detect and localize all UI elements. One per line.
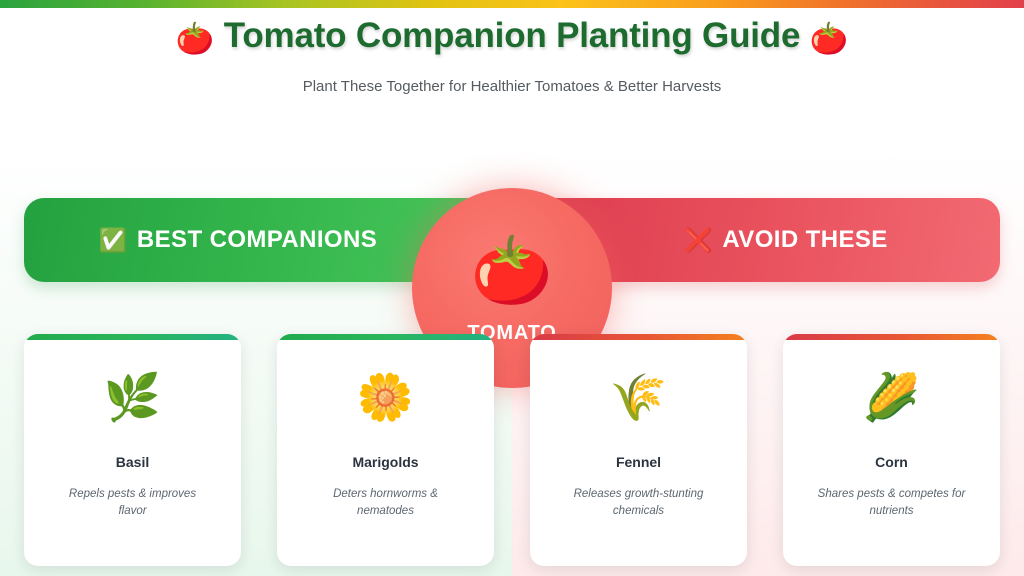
page-title-text: Tomato Companion Planting Guide xyxy=(224,16,800,55)
plant-name: Corn xyxy=(875,454,908,470)
herb-icon: 🌿 xyxy=(104,366,161,428)
plant-card-marigolds[interactable]: 🌼 Marigolds Deters hornworms & nematodes xyxy=(277,334,494,566)
tomato-icon-center: 🍅 xyxy=(471,237,553,303)
card-accent-bar xyxy=(530,334,747,340)
cross-mark-icon: ❌ xyxy=(684,229,713,252)
plant-description: Deters hornworms & nematodes xyxy=(311,486,461,519)
plant-card-list: 🌿 Basil Repels pests & improves flavor 🌼… xyxy=(24,334,1000,566)
plant-description: Shares pests & competes for nutrients xyxy=(817,486,967,519)
blossom-icon: 🌼 xyxy=(357,366,414,428)
page-title: 🍅 Tomato Companion Planting Guide 🍅 xyxy=(0,14,1024,59)
check-mark-icon: ✅ xyxy=(99,229,128,252)
tomato-icon-right: 🍅 xyxy=(810,21,848,56)
plant-card-basil[interactable]: 🌿 Basil Repels pests & improves flavor xyxy=(24,334,241,566)
plant-card-corn[interactable]: 🌽 Corn Shares pests & competes for nutri… xyxy=(783,334,1000,566)
card-accent-bar xyxy=(277,334,494,340)
infographic-page: 🍅 Tomato Companion Planting Guide 🍅 Plan… xyxy=(0,0,1024,576)
plant-description: Repels pests & improves flavor xyxy=(58,486,208,519)
header: 🍅 Tomato Companion Planting Guide 🍅 Plan… xyxy=(0,14,1024,95)
page-subtitle: Plant These Together for Healthier Tomat… xyxy=(0,78,1024,95)
card-accent-bar xyxy=(783,334,1000,340)
sheaf-of-rice-icon: 🌾 xyxy=(610,366,667,428)
banner-best-companions-label: BEST COMPANIONS xyxy=(137,226,377,254)
corn-icon: 🌽 xyxy=(863,366,920,428)
tomato-icon-left: 🍅 xyxy=(176,21,214,56)
plant-card-fennel[interactable]: 🌾 Fennel Releases growth-stunting chemic… xyxy=(530,334,747,566)
plant-name: Basil xyxy=(116,454,149,470)
plant-name: Fennel xyxy=(616,454,661,470)
plant-name: Marigolds xyxy=(352,454,418,470)
plant-description: Releases growth-stunting chemicals xyxy=(564,486,714,519)
card-accent-bar xyxy=(24,334,241,340)
banner-avoid-these-label: AVOID THESE xyxy=(722,226,887,254)
top-gradient-bar xyxy=(0,0,1024,8)
